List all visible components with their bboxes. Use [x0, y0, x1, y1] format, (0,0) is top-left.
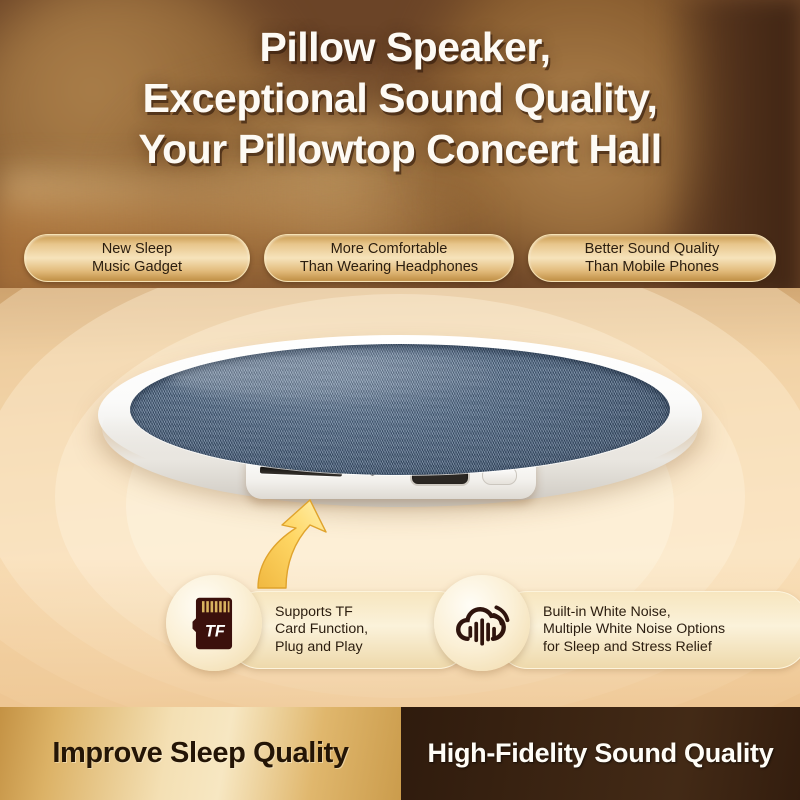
callout-text: Supports TF Card Function, Plug and Play	[275, 604, 368, 657]
product-image-pillow-speaker	[98, 335, 702, 520]
callout-line-1: Built-in White Noise,	[543, 604, 725, 622]
headline-line-2: Exceptional Sound Quality,	[0, 73, 800, 124]
speaker-mesh-highlight	[168, 349, 498, 401]
pill-line-2: Than Wearing Headphones	[279, 258, 499, 276]
svg-text:TF: TF	[205, 622, 226, 640]
white-noise-cloud-icon	[448, 591, 516, 655]
banner-right-high-fidelity-sound-quality: High-Fidelity Sound Quality	[401, 707, 800, 800]
headline-line-3: Your Pillowtop Concert Hall	[0, 124, 800, 175]
pointing-arrow-icon	[252, 498, 362, 590]
feature-pill-better-sound-quality: Better Sound Quality Than Mobile Phones	[528, 234, 776, 283]
callout-line-1: Supports TF	[275, 604, 368, 622]
feature-pill-new-sleep-music-gadget: New Sleep Music Gadget	[24, 234, 250, 283]
pill-line-1: More Comfortable	[279, 240, 499, 258]
bottom-banner: Improve Sleep Quality High-Fidelity Soun…	[0, 707, 800, 800]
pill-line-1: Better Sound Quality	[543, 240, 761, 258]
pill-line-2: Than Mobile Phones	[543, 258, 761, 276]
pill-line-1: New Sleep	[39, 240, 235, 258]
advertisement-banner: Pillow Speaker, Exceptional Sound Qualit…	[0, 0, 800, 800]
feature-pill-row: New Sleep Music Gadget More Comfortable …	[0, 231, 800, 285]
callout-line-2: Multiple White Noise Options	[543, 621, 725, 639]
callout-line-3: for Sleep and Stress Relief	[543, 639, 725, 657]
callout-text: Built-in White Noise, Multiple White Noi…	[543, 604, 725, 657]
callout-line-3: Plug and Play	[275, 639, 368, 657]
headline: Pillow Speaker, Exceptional Sound Qualit…	[0, 22, 800, 174]
callout-line-2: Card Function,	[275, 621, 368, 639]
headline-line-1: Pillow Speaker,	[0, 22, 800, 73]
pill-line-2: Music Gadget	[39, 258, 235, 276]
banner-right-text: High-Fidelity Sound Quality	[401, 738, 800, 769]
feature-pill-more-comfortable: More Comfortable Than Wearing Headphones	[264, 234, 514, 283]
banner-left-text: Improve Sleep Quality	[0, 737, 401, 770]
banner-left-improve-sleep-quality: Improve Sleep Quality	[0, 707, 401, 800]
tf-card-icon: TF	[180, 591, 248, 655]
callout-text-plate: Built-in White Noise, Multiple White Noi…	[496, 591, 800, 669]
